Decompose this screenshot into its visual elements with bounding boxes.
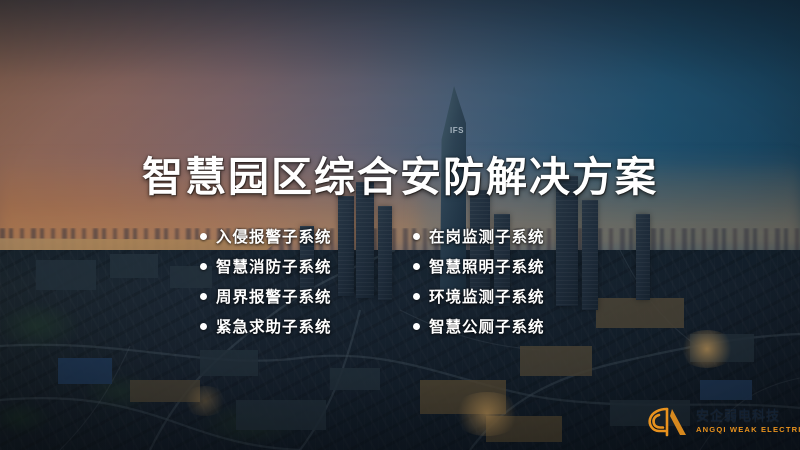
bullet-icon (413, 323, 420, 330)
list-item[interactable]: 在岗监测子系统 (413, 224, 600, 248)
logo-name-en: ANGQI WEAK ELECTRICITY (696, 426, 800, 434)
bullet-icon (413, 263, 420, 270)
bullet-icon (200, 233, 207, 240)
list-item-label: 智慧消防子系统 (216, 255, 332, 277)
list-item-label: 智慧公厕子系统 (429, 315, 545, 337)
bullet-icon (413, 293, 420, 300)
list-item[interactable]: 智慧公厕子系统 (413, 314, 600, 338)
subsystem-list: 入侵报警子系统 智慧消防子系统 周界报警子系统 紧急求助子系统 (200, 224, 600, 338)
logo-name-cn: 安企弱电科技 (696, 409, 800, 422)
list-item-label: 智慧照明子系统 (429, 255, 545, 277)
presentation-slide: IFS 智慧园区综合安防解决方案 入侵报警子系统 智慧消防子系统 周界报警子系统 (0, 0, 800, 450)
slide-content: 智慧园区综合安防解决方案 入侵报警子系统 智慧消防子系统 周界报警子系统 紧急 (0, 0, 800, 450)
subsystem-column-right: 在岗监测子系统 智慧照明子系统 环境监测子系统 智慧公厕子系统 (387, 224, 600, 338)
list-item-label: 环境监测子系统 (429, 285, 545, 307)
list-item-label: 入侵报警子系统 (216, 225, 332, 247)
list-item[interactable]: 入侵报警子系统 (200, 224, 387, 248)
bullet-icon (200, 293, 207, 300)
list-item[interactable]: 紧急求助子系统 (200, 314, 387, 338)
bullet-icon (200, 323, 207, 330)
bullet-icon (413, 233, 420, 240)
subsystem-column-left: 入侵报警子系统 智慧消防子系统 周界报警子系统 紧急求助子系统 (200, 224, 387, 338)
company-logo[interactable]: 安企弱电科技 ANGQI WEAK ELECTRICITY (646, 399, 794, 443)
list-item[interactable]: 智慧照明子系统 (413, 254, 600, 278)
logo-text-block: 安企弱电科技 ANGQI WEAK ELECTRICITY (696, 409, 800, 434)
slide-title: 智慧园区综合安防解决方案 (0, 143, 800, 203)
list-item[interactable]: 智慧消防子系统 (200, 254, 387, 278)
angqi-monogram-icon (646, 401, 692, 441)
list-item-label: 在岗监测子系统 (429, 225, 545, 247)
bullet-icon (200, 263, 207, 270)
list-item[interactable]: 周界报警子系统 (200, 284, 387, 308)
list-item-label: 周界报警子系统 (216, 285, 332, 307)
list-item[interactable]: 环境监测子系统 (413, 284, 600, 308)
list-item-label: 紧急求助子系统 (216, 315, 332, 337)
